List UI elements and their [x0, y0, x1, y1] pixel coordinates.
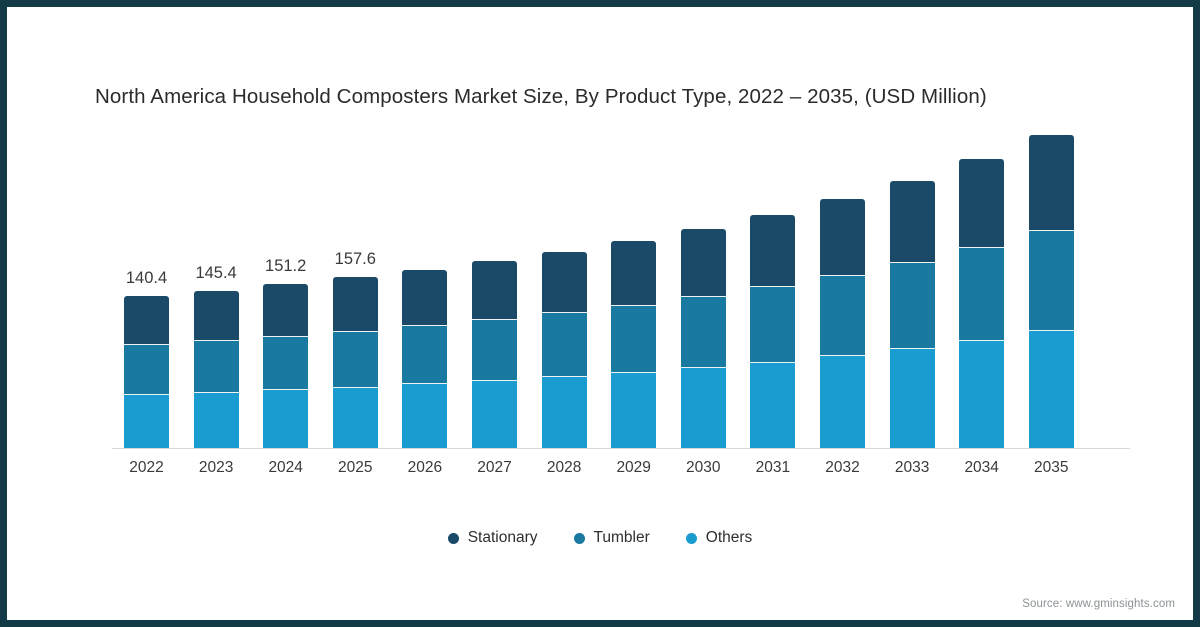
bar-group: 140.4: [124, 7, 169, 448]
bar-group: [820, 7, 865, 448]
bar-segment-stationary: [194, 291, 239, 341]
bar-segment-others: [194, 392, 239, 448]
legend-swatch-icon: [686, 533, 697, 544]
bar-segment-others: [472, 380, 517, 448]
bar-segment-stationary: [542, 252, 587, 313]
bar-segment-stationary: [959, 159, 1004, 247]
bar-segment-stationary: [263, 284, 308, 335]
bar-segment-others: [542, 376, 587, 448]
bar-segment-others: [1029, 330, 1074, 448]
bar-group: [472, 7, 517, 448]
bar-group: 145.4: [194, 7, 239, 448]
bar-group: [681, 7, 726, 448]
bar-segment-stationary: [820, 199, 865, 275]
chart-canvas: North America Household Composters Marke…: [7, 7, 1193, 620]
bar-segment-tumbler: [750, 286, 795, 361]
chart-legend: StationaryTumblerOthers: [7, 529, 1193, 547]
bar-segment-others: [333, 387, 378, 448]
bar-segment-others: [611, 372, 656, 448]
bar-segment-stationary: [124, 296, 169, 344]
bar-segment-tumbler: [1029, 230, 1074, 330]
bar-segment-tumbler: [542, 312, 587, 376]
bar-segment-others: [681, 367, 726, 448]
bar-segment-stationary: [681, 229, 726, 296]
bar-group: [611, 7, 656, 448]
bar-segment-tumbler: [333, 331, 378, 387]
legend-item-stationary[interactable]: Stationary: [448, 529, 538, 547]
bar-segment-tumbler: [263, 336, 308, 390]
bar-segment-tumbler: [681, 296, 726, 367]
bar-segment-tumbler: [194, 340, 239, 392]
legend-label: Stationary: [468, 529, 538, 547]
bar-segment-stationary: [611, 241, 656, 305]
legend-swatch-icon: [448, 533, 459, 544]
bar-segment-others: [263, 389, 308, 448]
legend-label: Others: [706, 529, 753, 547]
bar-segment-stationary: [890, 181, 935, 262]
bar-group: [542, 7, 587, 448]
legend-item-others[interactable]: Others: [686, 529, 753, 547]
bar-group: [750, 7, 795, 448]
chart-figure: North America Household Composters Marke…: [0, 0, 1200, 627]
bar-segment-others: [959, 340, 1004, 448]
x-axis-tick-2035: 2035: [1006, 459, 1096, 477]
bar-segment-stationary: [1029, 135, 1074, 230]
bar-group: [959, 7, 1004, 448]
bar-group: [1029, 7, 1074, 448]
bar-segment-tumbler: [820, 275, 865, 355]
bar-segment-stationary: [333, 277, 378, 330]
legend-label: Tumbler: [594, 529, 650, 547]
bar-segment-stationary: [402, 270, 447, 326]
bar-segment-others: [890, 348, 935, 448]
bar-group: [890, 7, 935, 448]
bar-group: 157.6: [333, 7, 378, 448]
bar-segment-tumbler: [402, 325, 447, 383]
bar-segment-others: [124, 394, 169, 448]
source-attribution: Source: www.gminsights.com: [1022, 598, 1175, 610]
bar-segment-tumbler: [890, 262, 935, 348]
legend-swatch-icon: [574, 533, 585, 544]
legend-item-tumbler[interactable]: Tumbler: [574, 529, 650, 547]
bar-segment-stationary: [472, 261, 517, 319]
bar-segment-tumbler: [124, 344, 169, 394]
bar-segment-tumbler: [611, 305, 656, 372]
bar-group: [402, 7, 447, 448]
bar-segment-stationary: [750, 215, 795, 286]
bar-group: 151.2: [263, 7, 308, 448]
bar-value-label: 157.6: [310, 250, 400, 269]
bar-segment-others: [750, 362, 795, 448]
bar-segment-tumbler: [472, 319, 517, 380]
bar-segment-others: [402, 383, 447, 448]
bar-segment-others: [820, 355, 865, 448]
bar-segment-tumbler: [959, 247, 1004, 340]
